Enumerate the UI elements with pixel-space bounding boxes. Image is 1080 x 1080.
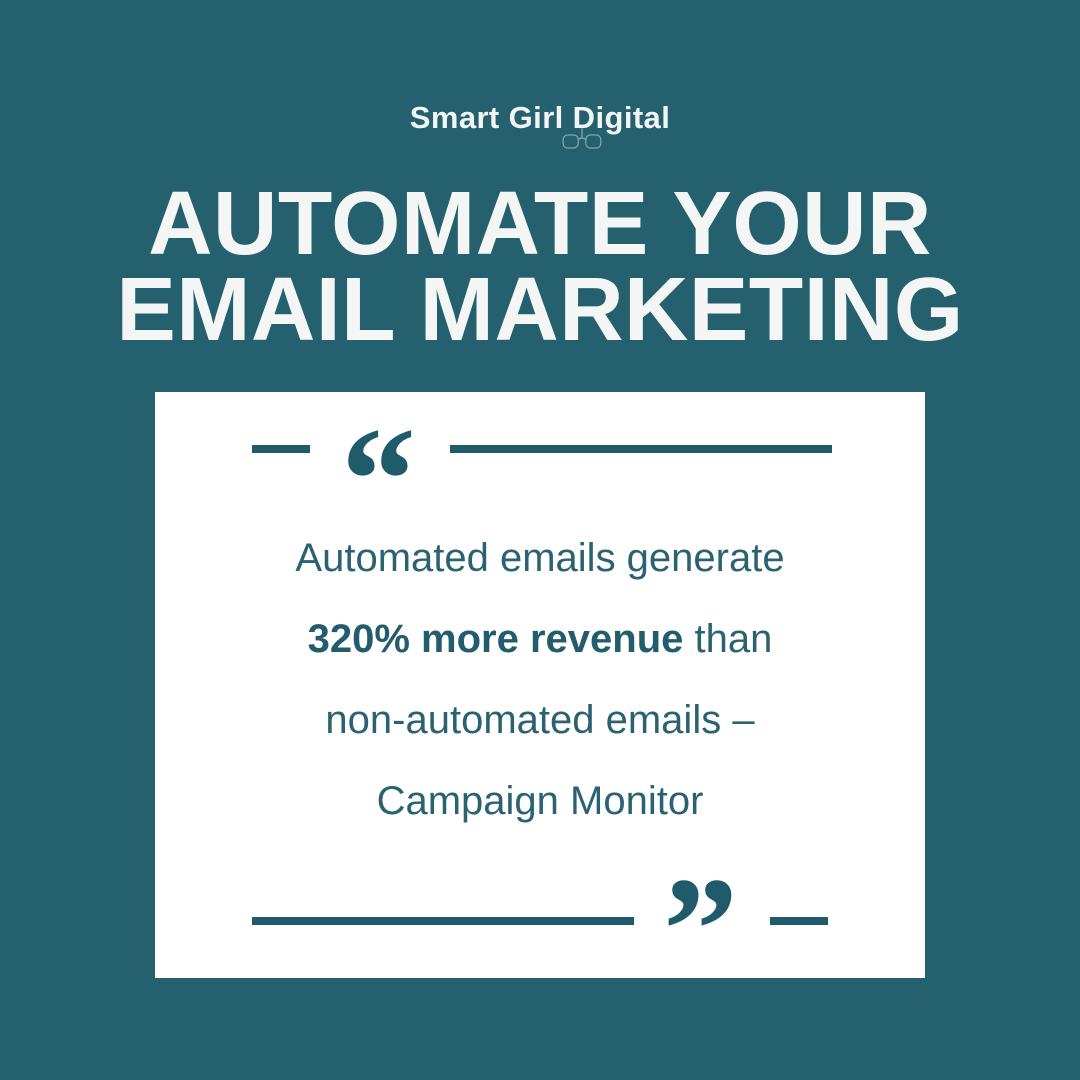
decoration-rule-long [252, 917, 634, 925]
brand-logo-text: Smart Girl Digital [410, 100, 670, 136]
quote-statistic: 320% more revenue [308, 617, 684, 661]
social-post-canvas: Smart Girl Digital AUTOMATE YOUR EMAIL M… [0, 0, 1080, 1080]
brand-logo: Smart Girl Digital [0, 100, 1080, 160]
quote-line-1: Automated emails generate [195, 518, 885, 599]
decoration-rule-short [770, 917, 828, 925]
quote-source: Campaign Monitor [195, 761, 885, 842]
quote-decoration-top: “ [155, 414, 925, 484]
quote-card: “ Automated emails generate 320% more re… [155, 392, 925, 978]
quote-line-2: 320% more revenue than [195, 599, 885, 680]
brand-name: Smart Girl Digital [410, 100, 670, 135]
decoration-rule-short [252, 445, 310, 453]
quote-decoration-bottom: ” [155, 886, 925, 956]
page-title: AUTOMATE YOUR EMAIL MARKETING [0, 186, 1080, 348]
headline-line-2: EMAIL MARKETING [5, 272, 1074, 348]
quote-text: Automated emails generate 320% more reve… [195, 518, 885, 842]
quote-line-3: non-automated emails – [195, 680, 885, 761]
quote-line-2-tail: than [683, 617, 772, 661]
headline-line-1: AUTOMATE YOUR [5, 186, 1074, 262]
decoration-rule-long [450, 445, 832, 453]
